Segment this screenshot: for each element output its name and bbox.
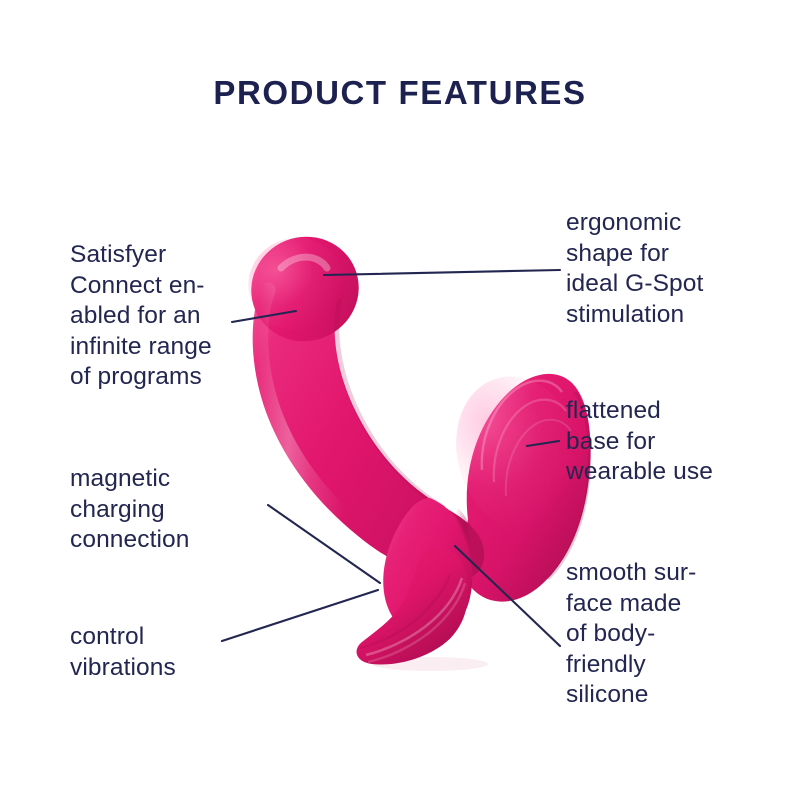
callout-ergonomic-shape: ergonomic shape for ideal G-Spot stimula… xyxy=(566,208,791,330)
product-features-infographic: PRODUCT FEATURES xyxy=(0,0,800,800)
product-contact-shadow xyxy=(372,657,488,671)
callout-smooth-surface: smooth sur- face made of body- friendly … xyxy=(566,558,791,711)
callout-magnetic-charging: magnetic charging connection xyxy=(70,464,270,556)
callout-control-vibrations: control vibrations xyxy=(70,622,270,683)
callout-satisfyer-connect: Satisfyer Connect en- abled for an infin… xyxy=(70,240,280,393)
callout-flattened-base: flattened base for wearable use xyxy=(566,396,791,488)
